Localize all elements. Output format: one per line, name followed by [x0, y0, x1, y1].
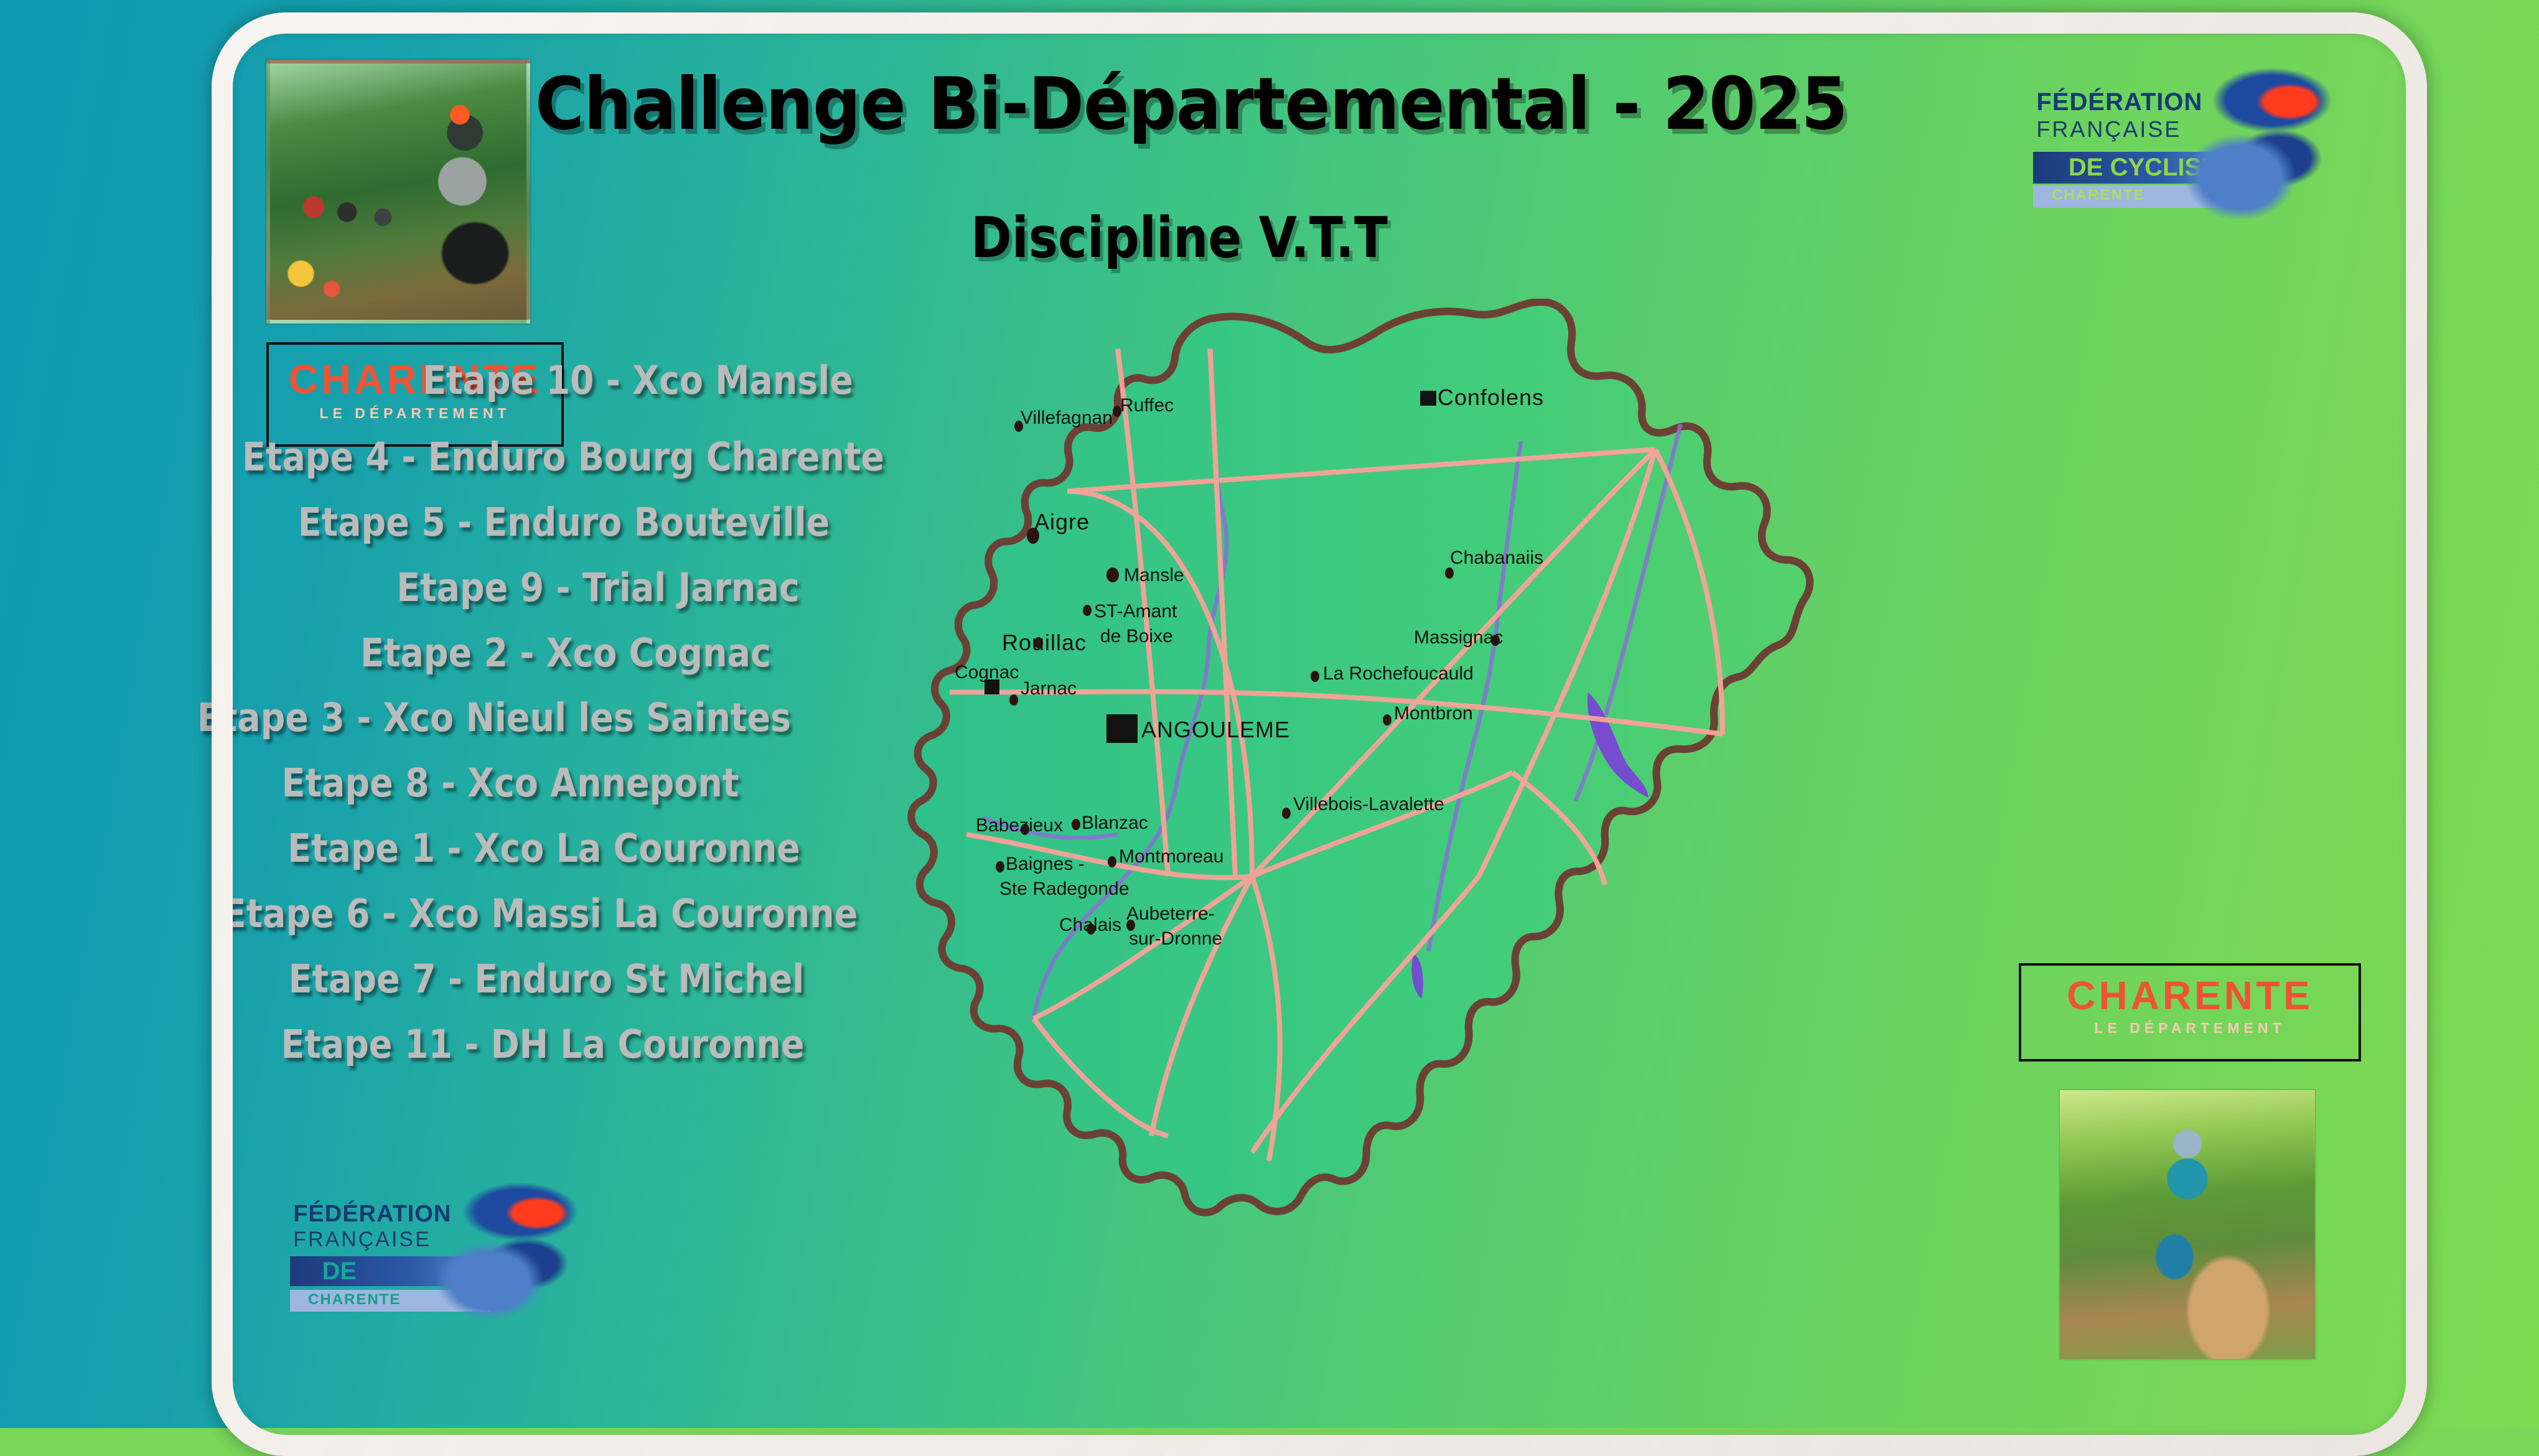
- list-item: Etape 1 - Xco La Couronne: [91, 829, 996, 869]
- map-label-montbron: Montbron: [1394, 703, 1473, 724]
- list-item: Etape 4 - Enduro Bourg Charente: [128, 437, 998, 478]
- map-label-st-amant: ST-Amant: [1094, 601, 1177, 622]
- map-marker-montmoreau: [1108, 856, 1116, 867]
- list-item: Etape 9 - Trial Jarnac: [194, 568, 1003, 609]
- map-marker-st-amant: [1083, 605, 1092, 616]
- map-label-confolens: Confolens: [1438, 385, 1544, 411]
- charente-logo-bottom: CHARENTE LE DÉPARTEMENT: [2019, 963, 2361, 1062]
- map-marker-la-rochefoucauld: [1311, 671, 1319, 682]
- map-marker-mansle: [1106, 567, 1119, 582]
- list-item: Etape 8 - Xco Annepont: [29, 763, 993, 804]
- map-label-angouleme: ANGOULEME: [1141, 717, 1290, 743]
- list-item: Etape 3 - Xco Nieul les Saintes: [0, 698, 990, 739]
- map-label-la-rochefoucauld: La Rochefoucauld: [1323, 663, 1474, 684]
- ffc-swoosh-icon: [2171, 58, 2345, 219]
- map-label-chalais: Chalais: [1059, 915, 1121, 936]
- mtb-riders-photo: [266, 60, 530, 324]
- list-item: Etape 6 - Xco Massi La Couronne: [85, 894, 996, 935]
- map-marker-montbron: [1383, 714, 1391, 726]
- charente-bottom-name: CHARENTE: [2021, 972, 2359, 1020]
- map-label-ruffec: Ruffec: [1120, 395, 1174, 416]
- map-marker-chabanais: [1445, 567, 1454, 579]
- list-item: Etape 11 - DH La Couronne: [89, 1025, 996, 1065]
- page-subtitle: Discipline V.T.T: [971, 205, 1388, 271]
- map-marker-blanzac: [1072, 819, 1080, 830]
- charente-bottom-tagline: LE DÉPARTEMENT: [2021, 1020, 2359, 1037]
- mtb-forest-photo: [2060, 1090, 2315, 1359]
- map-marker-villebois: [1282, 808, 1291, 819]
- ffc-logo-top: FÉDÉRATION FRANÇAISE DE CYCLISME CHARENT…: [2016, 44, 2352, 230]
- map-label-blanzac: Blanzac: [1082, 813, 1148, 834]
- map-marker-angouleme: [1106, 714, 1138, 743]
- ffc-swoosh-icon: [423, 1174, 591, 1318]
- ffc-top-line4: CHARENTE: [2033, 187, 2144, 203]
- ffc-bottom-line4: CHARENTE: [290, 1291, 401, 1308]
- list-item: Etape 10 - Xco Mansle: [268, 361, 1008, 401]
- etapes-list: Etape 10 - Xco Mansle Etape 4 - Enduro B…: [0, 361, 1058, 1090]
- map-label-massignac: Massignac: [1414, 627, 1503, 648]
- map-label-villebois-lavalette: Villebois-Lavalette: [1293, 794, 1444, 815]
- map-label-aubeterre: Aubeterre-: [1126, 903, 1215, 925]
- map-label-montmoreau: Montmoreau: [1119, 846, 1223, 867]
- map-label-chabanais: Chabanaiis: [1450, 548, 1543, 569]
- map-marker-confolens: [1420, 391, 1436, 406]
- map-label-mansle: Mansle: [1124, 565, 1184, 586]
- list-item: Etape 2 - Xco Cognac: [133, 633, 999, 674]
- map-label-sur-dronne: sur-Dronne: [1129, 928, 1222, 950]
- list-item: Etape 7 - Enduro St Michel: [96, 959, 997, 1000]
- ffc-logo-bottom: FÉDÉRATION FRANÇAISE DE CYCLISME CHARENT…: [274, 1160, 597, 1328]
- page-title: Challenge Bi-Départemental - 2025: [535, 62, 1924, 146]
- list-item: Etape 5 - Enduro Bouteville: [129, 503, 998, 543]
- poster-canvas: Villefagnan Ruffec Confolens Chabanaiis …: [0, 0, 2539, 1428]
- map-label-st-amant-de-boixe: de Boixe: [1100, 626, 1173, 647]
